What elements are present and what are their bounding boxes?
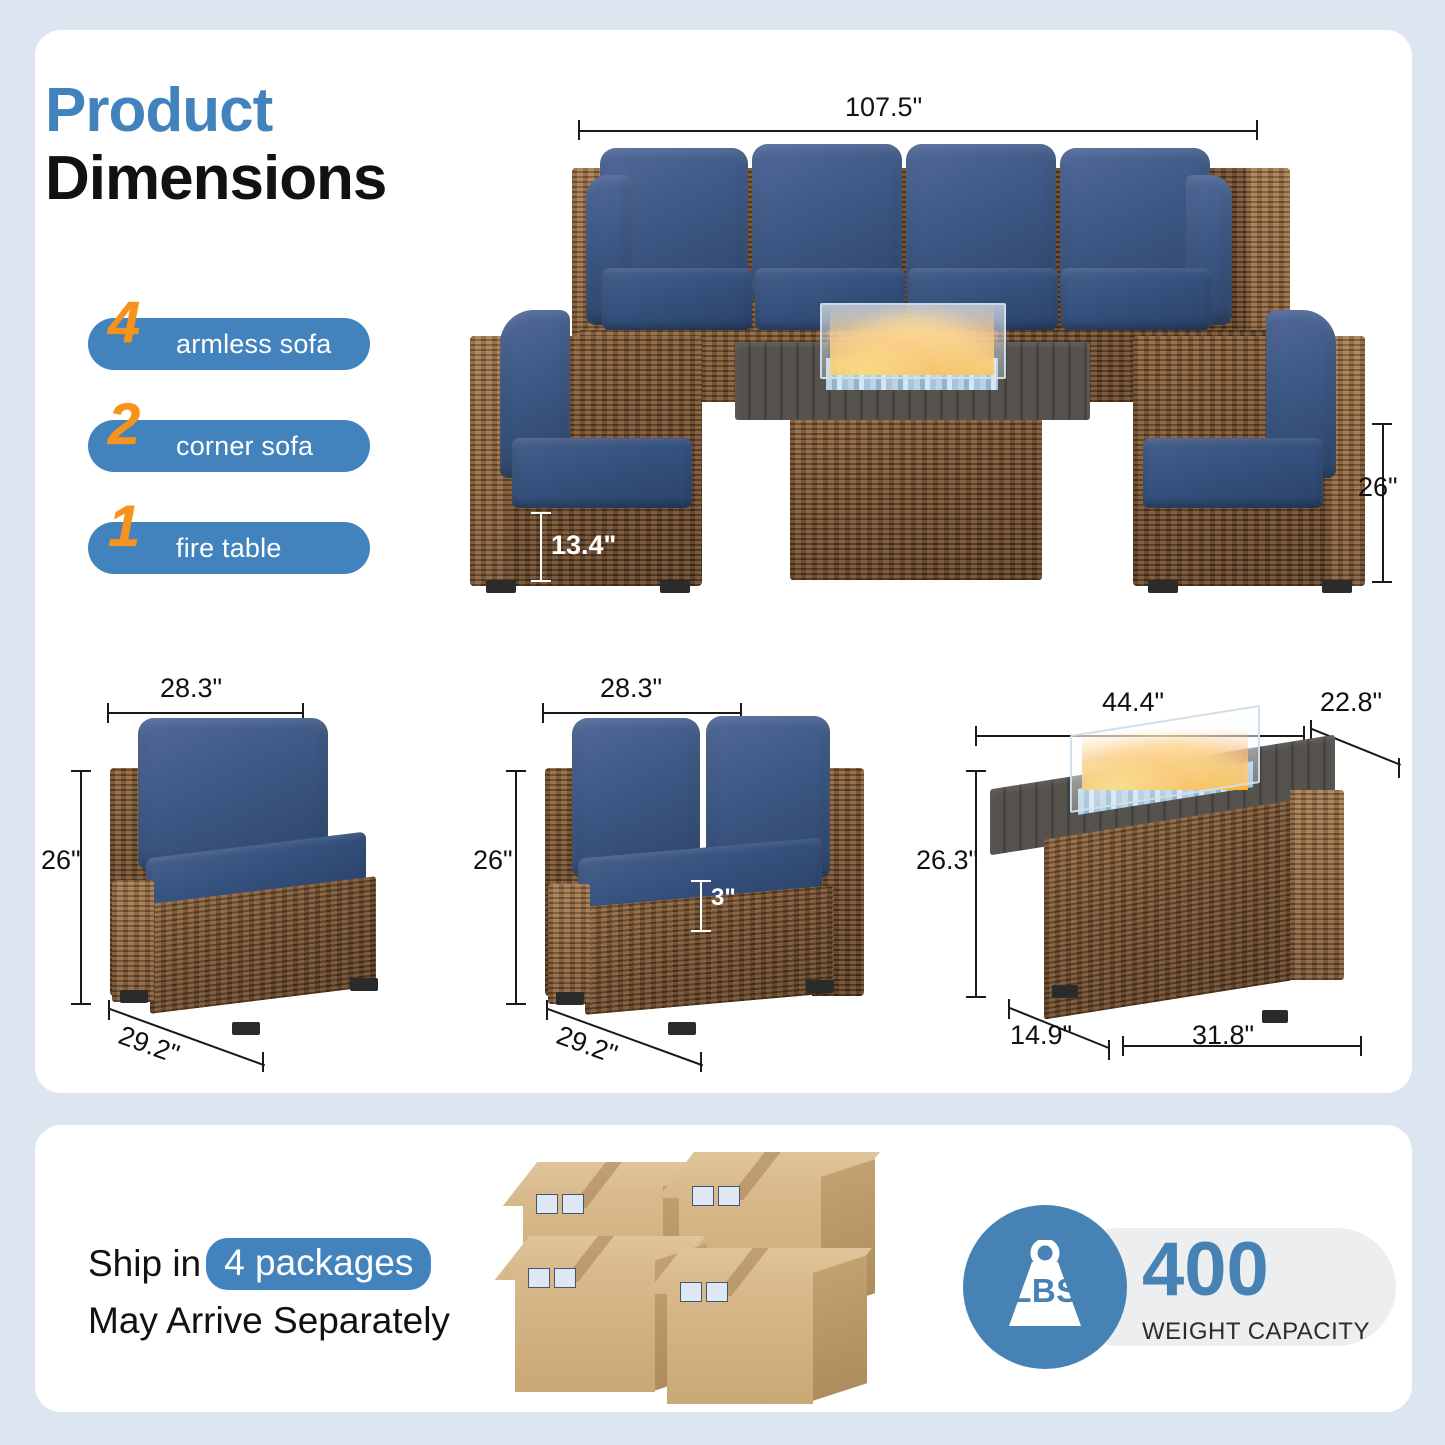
weight-icon-text: LBS [1005, 1272, 1085, 1310]
title-line-dimensions: Dimensions [45, 146, 386, 211]
piece-count-corner-sofa: 2 corner sofa [88, 420, 370, 472]
title-line-product: Product [45, 80, 386, 142]
count-label: fire table [176, 533, 282, 564]
shipping-prefix: Ship in [88, 1243, 201, 1285]
count-number: 4 [108, 294, 140, 352]
weight-capacity-value: 400 [1142, 1232, 1269, 1308]
piece-count-armless-sofa: 4 armless sofa [88, 318, 370, 370]
count-label: armless sofa [176, 329, 331, 360]
shipping-text-block: Ship in 4 packages May Arrive Separately [88, 1238, 450, 1342]
weight-capacity-caption: WEIGHT CAPACITY [1142, 1318, 1370, 1346]
count-label: corner sofa [176, 431, 313, 462]
piece-count-fire-table: 1 fire table [88, 522, 370, 574]
shipping-line-1: Ship in 4 packages [88, 1238, 450, 1290]
count-number: 2 [108, 396, 140, 454]
package-count-badge: 4 packages [206, 1238, 431, 1290]
count-number: 1 [108, 498, 140, 556]
shipping-line-2: May Arrive Separately [88, 1300, 450, 1342]
page-title: Product Dimensions [45, 80, 386, 211]
piece-count-list: 4 armless sofa 2 corner sofa 1 fire tabl… [88, 318, 370, 624]
